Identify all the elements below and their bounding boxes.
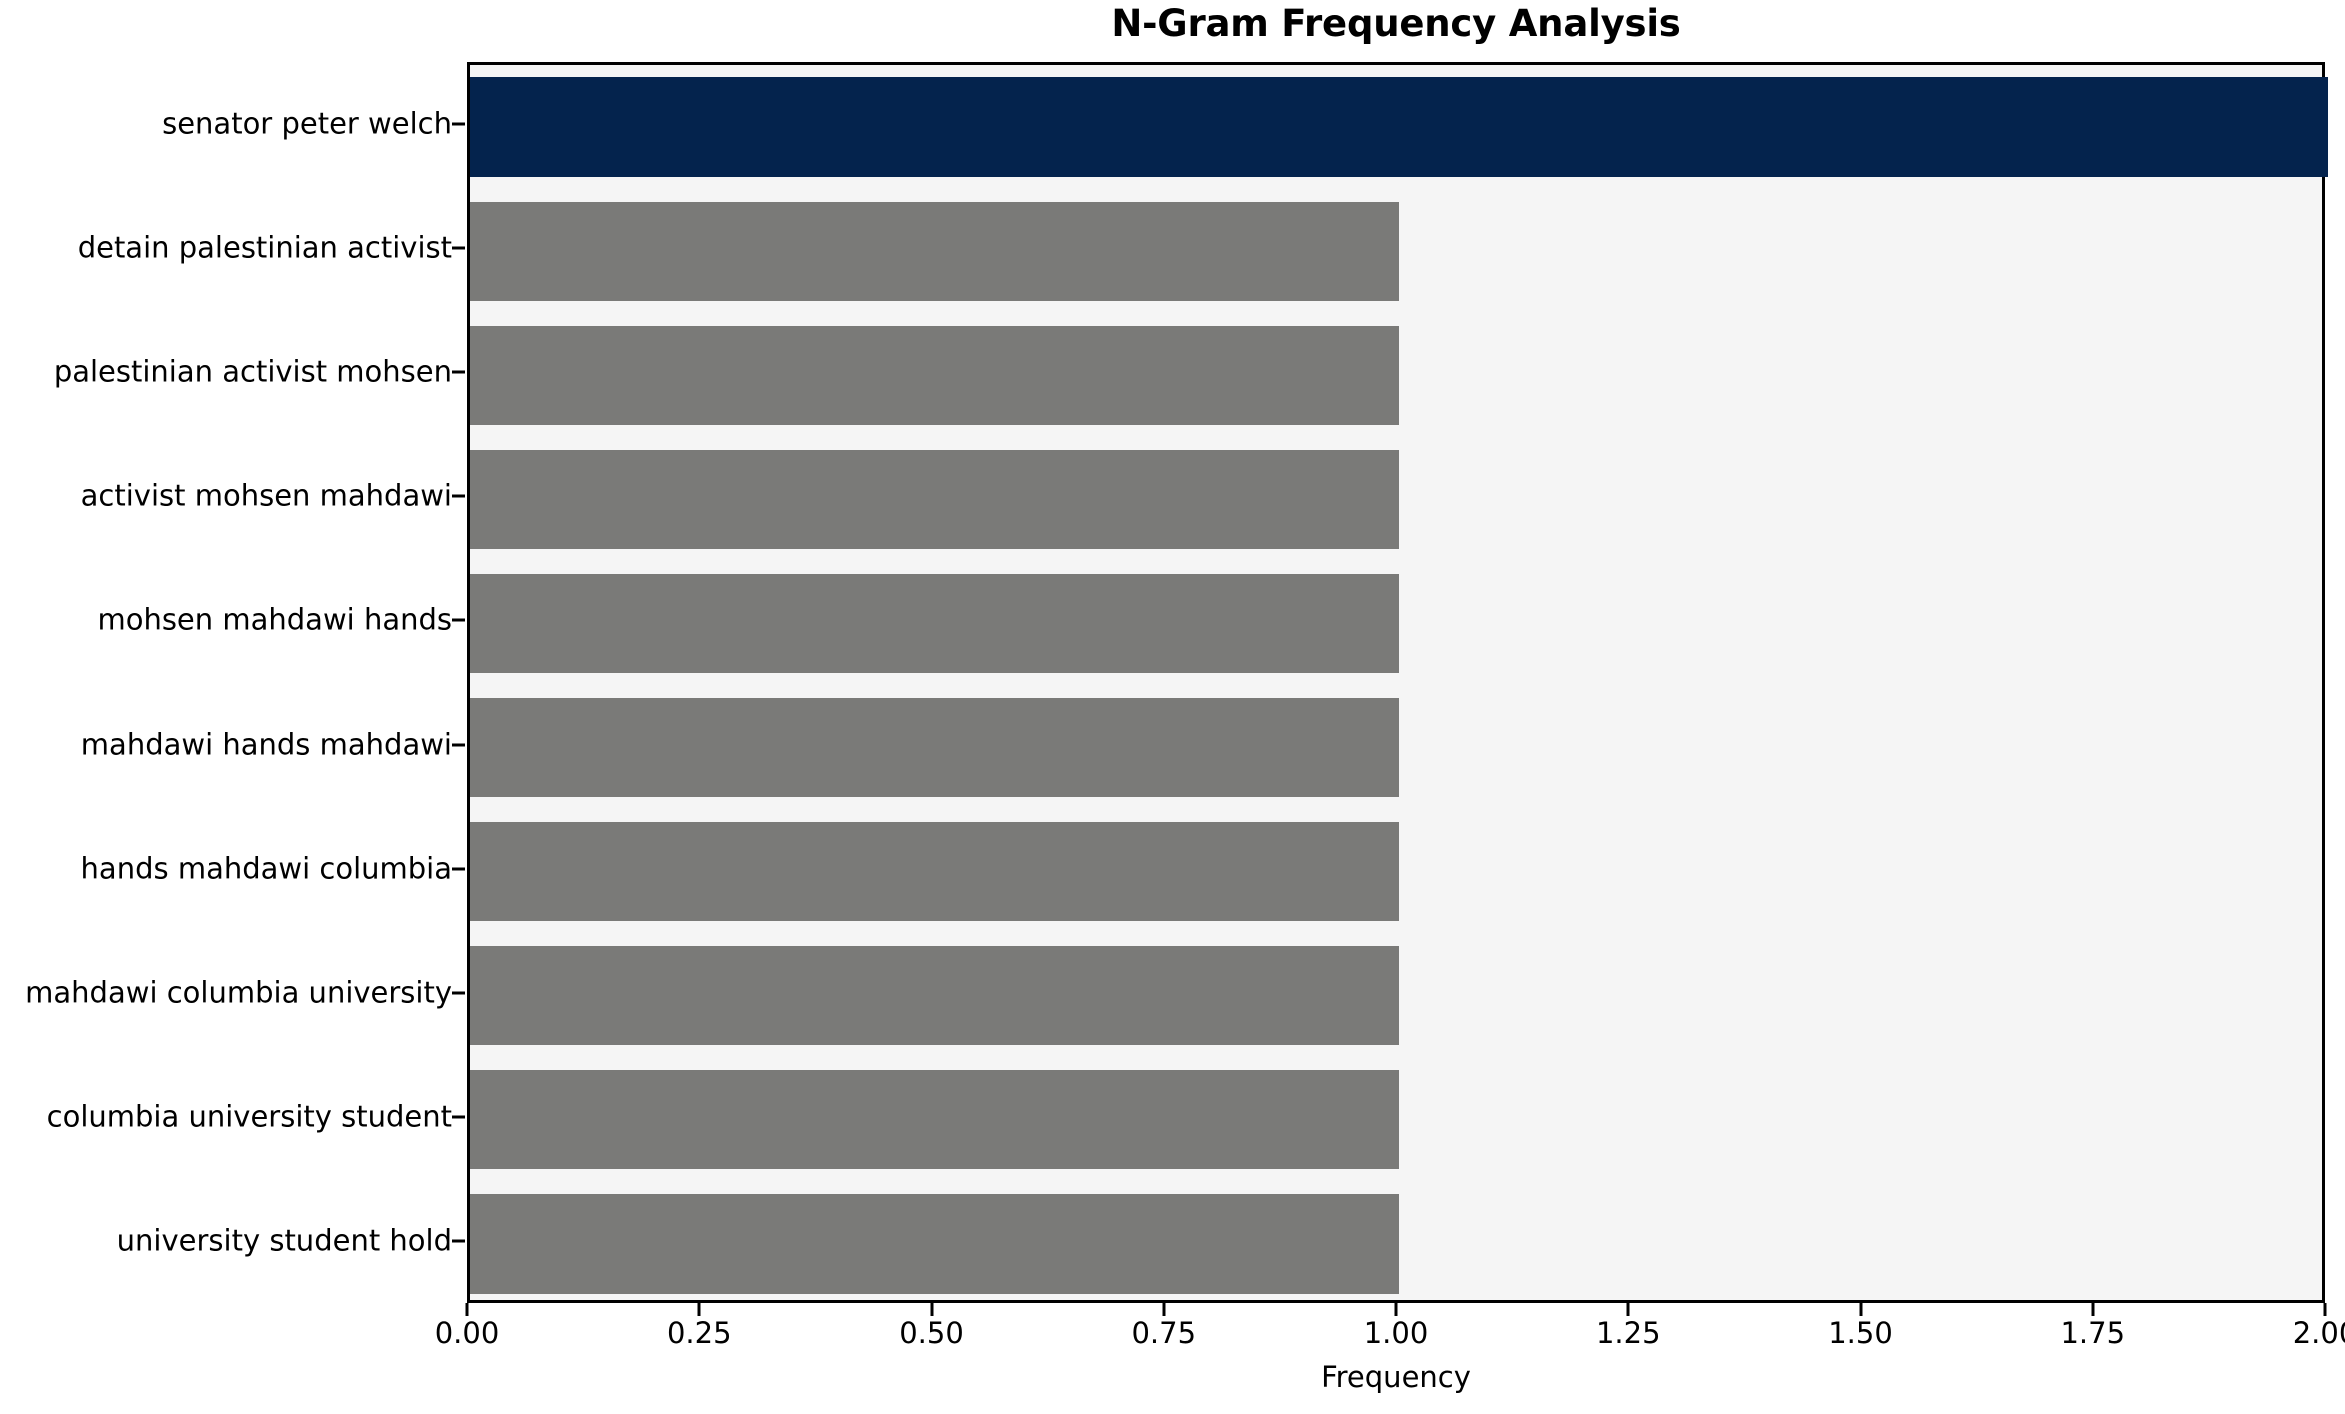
y-axis-tick-label: activist mohsen mahdawi <box>81 482 452 511</box>
x-axis-tick-label: 1.25 <box>1596 1318 1661 1350</box>
x-axis-tick-mark <box>1162 1303 1165 1316</box>
plot-area <box>467 62 2325 1303</box>
bar <box>470 202 1399 301</box>
bar <box>470 946 1399 1045</box>
y-axis-tick-label: palestinian activist mohsen <box>54 358 452 387</box>
y-axis-tick-marks <box>452 62 468 1303</box>
x-axis-tick-mark <box>1627 1303 1630 1316</box>
x-axis-tick-label: 1.75 <box>2060 1318 2125 1350</box>
y-axis-tick-label: hands mahdawi columbia <box>81 854 452 883</box>
y-axis-tick-label: mohsen mahdawi hands <box>97 606 452 635</box>
y-axis-tick-mark <box>452 371 465 374</box>
y-axis-tick-mark <box>452 1115 465 1118</box>
x-axis-tick-mark <box>1395 1303 1398 1316</box>
x-axis-tick-mark <box>930 1303 933 1316</box>
y-axis-tick-mark <box>452 247 465 250</box>
bar <box>470 326 1399 425</box>
bar <box>470 574 1399 673</box>
y-axis-tick-label: mahdawi hands mahdawi <box>81 730 452 759</box>
bars-layer <box>470 65 2322 1300</box>
x-axis-tick-label: 0.25 <box>667 1318 732 1350</box>
x-axis-tick-label: 2.00 <box>2293 1318 2345 1350</box>
y-axis-tick-mark <box>452 123 465 126</box>
bar <box>470 77 2328 176</box>
chart-title: N-Gram Frequency Analysis <box>467 2 2325 46</box>
y-axis-tick-label: senator peter welch <box>162 110 452 139</box>
bar <box>470 1070 1399 1169</box>
bar <box>470 1194 1399 1293</box>
y-axis-tick-mark <box>452 867 465 870</box>
x-axis-tick-marks <box>467 1303 2325 1317</box>
x-axis-tick-label: 0.75 <box>1131 1318 1196 1350</box>
y-axis-tick-label: detain palestinian activist <box>78 234 452 263</box>
x-axis-tick-label: 1.00 <box>1364 1318 1429 1350</box>
y-axis-tick-label: mahdawi columbia university <box>25 978 452 1007</box>
x-axis-tick-labels: 0.000.250.500.751.001.251.501.752.00 <box>467 1318 2325 1358</box>
x-axis-tick-mark <box>2324 1303 2327 1316</box>
x-axis-tick-mark <box>466 1303 469 1316</box>
x-axis-tick-label: 0.50 <box>899 1318 964 1350</box>
y-axis-tick-mark <box>452 743 465 746</box>
y-axis-tick-label: columbia university student <box>47 1102 452 1131</box>
bar <box>470 822 1399 921</box>
x-axis-tick-mark <box>1859 1303 1862 1316</box>
bar <box>470 450 1399 549</box>
y-axis-tick-label: university student hold <box>117 1226 452 1255</box>
x-axis-tick-mark <box>698 1303 701 1316</box>
y-axis-tick-mark <box>452 1239 465 1242</box>
x-axis-tick-label: 1.50 <box>1828 1318 1893 1350</box>
y-axis-tick-labels: senator peter welchdetain palestinian ac… <box>0 62 452 1303</box>
x-axis-tick-label: 0.00 <box>435 1318 500 1350</box>
x-axis-tick-mark <box>2091 1303 2094 1316</box>
chart-figure: N-Gram Frequency Analysis senator peter … <box>0 0 2345 1414</box>
bar <box>470 698 1399 797</box>
y-axis-tick-mark <box>452 991 465 994</box>
x-axis-title: Frequency <box>467 1362 2325 1394</box>
y-axis-tick-mark <box>452 495 465 498</box>
y-axis-tick-mark <box>452 619 465 622</box>
